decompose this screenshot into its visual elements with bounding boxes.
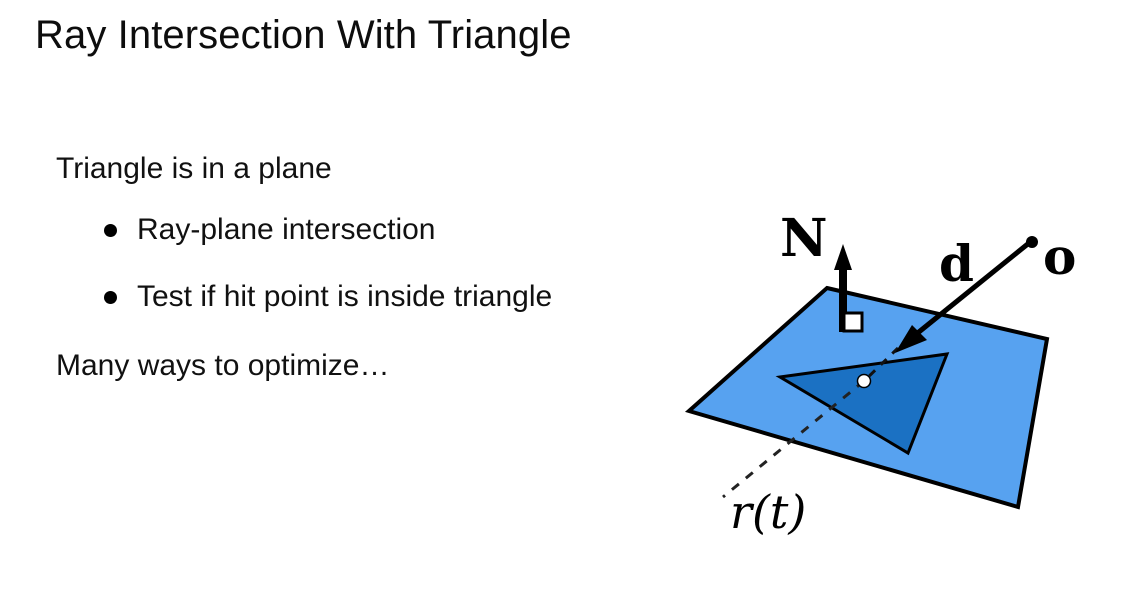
label-ray-function: r(t) xyxy=(730,485,806,539)
page-title: Ray Intersection With Triangle xyxy=(35,9,572,61)
right-angle-marker xyxy=(844,313,862,331)
label-normal: N xyxy=(780,208,828,269)
slide-body: Triangle is in a plane Ray-plane interse… xyxy=(56,148,616,387)
list-item: Ray-plane intersection xyxy=(104,210,567,250)
list-item-label: Test if hit point is inside triangle xyxy=(137,280,552,313)
closing-statement: Many ways to optimize… xyxy=(56,345,616,387)
ray-origin-dot xyxy=(1026,236,1038,248)
bullet-dot-icon xyxy=(104,291,117,304)
bullet-dot-icon xyxy=(104,224,117,237)
slide-canvas: Ray Intersection With Triangle Triangle … xyxy=(0,0,1142,589)
label-direction: d xyxy=(939,234,974,293)
list-item-label: Ray-plane intersection xyxy=(137,213,436,246)
hit-point-dot xyxy=(858,375,871,388)
list-item: Test if hit point is inside triangle xyxy=(104,277,567,317)
bullet-list: Ray-plane intersection Test if hit point… xyxy=(56,210,616,317)
ray-triangle-diagram: N d o r(t) xyxy=(650,180,1130,560)
label-origin: o xyxy=(1043,227,1076,286)
lead-statement: Triangle is in a plane xyxy=(56,148,616,190)
